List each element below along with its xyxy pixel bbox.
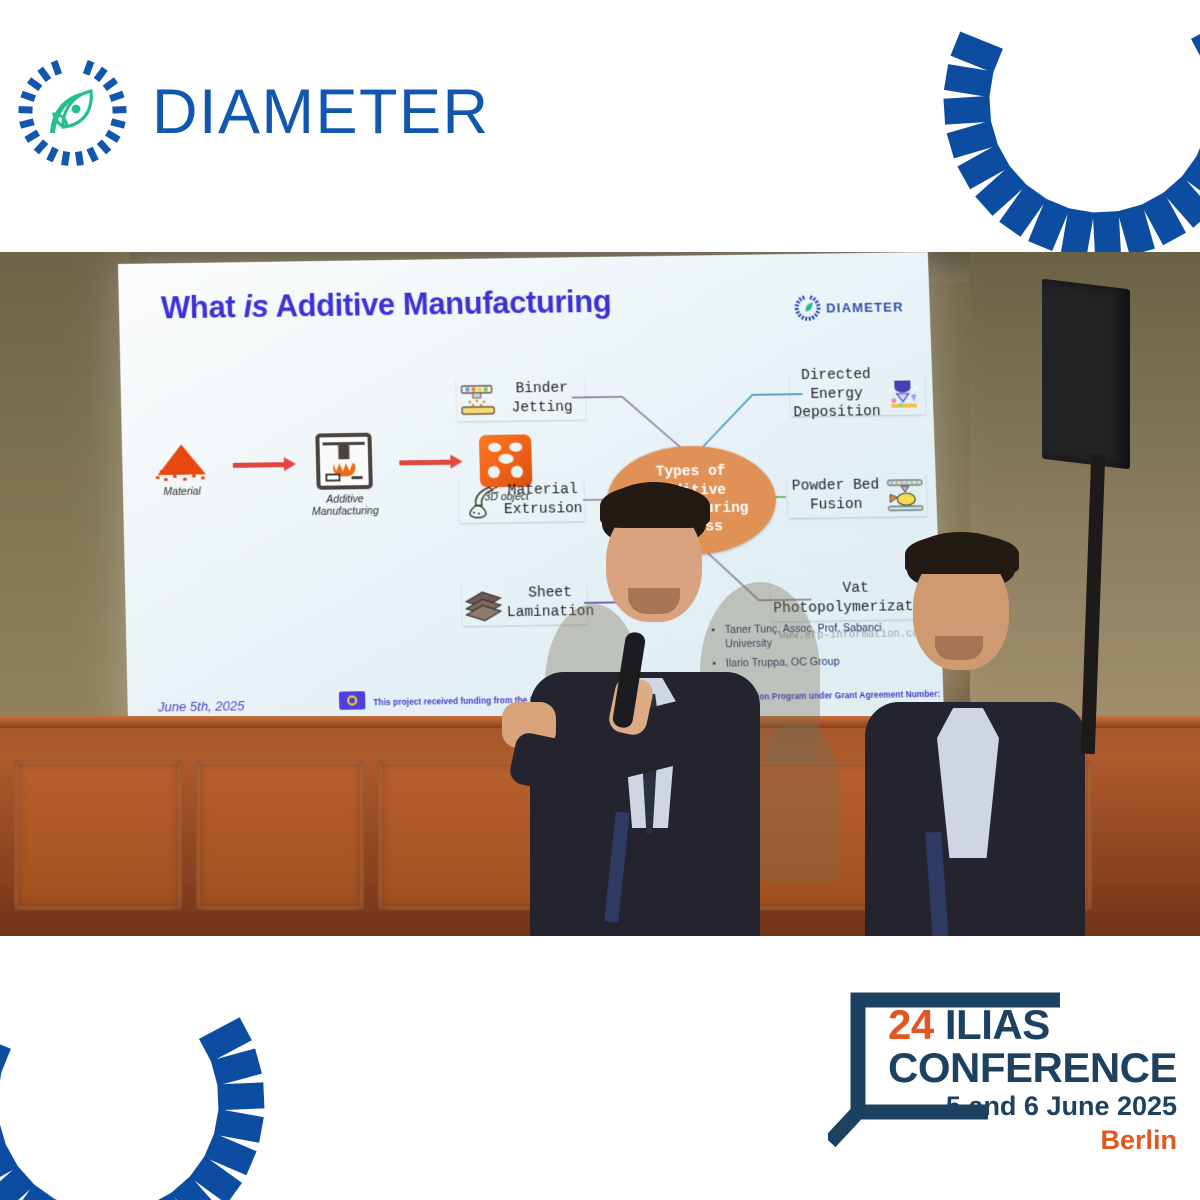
dash-tick <box>816 308 820 310</box>
mindmap-node-label: Directed Energy Deposition <box>789 363 883 426</box>
flow-arrow-2 <box>399 460 451 466</box>
dash-tick <box>96 139 111 154</box>
dash-tick <box>811 315 814 319</box>
dash-tick <box>804 317 806 321</box>
dash-tick <box>795 304 799 307</box>
dash-tick <box>18 106 32 114</box>
slide-logo-text: DIAMETER <box>826 299 904 315</box>
leaf-icon <box>41 81 103 143</box>
dashed-circle-decoration-bottom-left <box>0 942 268 1200</box>
dash-tick <box>46 147 58 163</box>
conference-name: ILIAS <box>945 1001 1050 1048</box>
dash-tick <box>61 151 70 166</box>
dash-tick <box>110 118 125 128</box>
dash-tick <box>93 67 107 82</box>
flow-step-label: Material <box>141 485 224 498</box>
flow-step-label: Additive Manufacturing <box>302 493 389 519</box>
mindmap-node-directed-energy-deposition[interactable]: Directed Energy Deposition <box>790 372 926 416</box>
dash-tick <box>33 139 48 154</box>
pa-speaker-on-stand <box>1036 274 1156 574</box>
dashed-circle-leaf-icon-small <box>795 296 820 320</box>
slide-date: June 5th, 2025 <box>158 698 245 715</box>
slide-title-part1: What <box>161 289 244 325</box>
dash-tick <box>0 1032 11 1073</box>
speaker-with-microphone <box>490 482 790 936</box>
second-presenter <box>855 532 1095 936</box>
dash-tick <box>112 106 126 114</box>
dash-tick <box>86 147 98 163</box>
conference-number: 24 <box>888 1001 934 1048</box>
eu-flag-icon <box>339 691 366 710</box>
flow-step-printer: Additive Manufacturing <box>300 432 388 518</box>
dash-tick <box>19 118 34 128</box>
dashed-circle-leaf-icon <box>18 58 126 166</box>
dash-tick <box>109 91 125 102</box>
dash-tick <box>50 60 61 76</box>
dash-tick <box>102 77 117 91</box>
conference-text-block: 24 ILIAS CONFERENCE 5 and 6 June 2025 Be… <box>888 1004 1177 1156</box>
dash-tick <box>1191 17 1200 62</box>
powder-pile-icon <box>153 441 210 482</box>
dash-tick <box>24 130 40 143</box>
dash-tick <box>795 308 799 310</box>
dash-tick <box>104 130 120 143</box>
3d-printer-icon <box>315 433 373 490</box>
slide-title-part3: Additive Manufacturing <box>268 284 612 324</box>
poster-canvas: DIAMETER What is Additive Manufacturing … <box>0 0 1200 1200</box>
flow-arrow-1 <box>233 462 285 468</box>
powder-bed-fusion-icon <box>884 478 927 513</box>
dash-tick <box>943 96 991 125</box>
conference-title-line1: 24 ILIAS <box>888 1004 1177 1046</box>
mindmap-node-binder-jetting[interactable]: Binder Jetting <box>456 377 585 421</box>
flow-step-material: Material <box>140 441 224 499</box>
ilias-conference-logo: 24 ILIAS CONFERENCE 5 and 6 June 2025 Be… <box>828 990 1178 1170</box>
mindmap-node-powder-bed-fusion[interactable]: Powder Bed Fusion <box>787 474 927 518</box>
dash-tick <box>808 316 811 320</box>
dash-tick <box>20 91 36 102</box>
dash-tick <box>37 67 51 82</box>
mindmap-node-label: Binder Jetting <box>498 377 585 422</box>
dash-tick <box>801 315 804 319</box>
slide-title: What is Additive Manufacturing <box>161 284 612 327</box>
conference-dates: 5 and 6 June 2025 <box>888 1090 1177 1124</box>
conference-title-line2: CONFERENCE <box>888 1046 1177 1090</box>
slide-title-part2: is <box>243 289 269 324</box>
diameter-brand-logo: DIAMETER <box>18 58 490 166</box>
conference-city: Berlin <box>888 1124 1177 1156</box>
dash-tick <box>82 60 93 76</box>
am-process-flow: Material Additive Manufacturing <box>140 432 444 562</box>
directed-energy-deposition-icon <box>882 376 925 411</box>
binder-jetting-icon <box>456 383 499 418</box>
dash-tick <box>74 151 83 166</box>
conference-presentation-photo: What is Additive Manufacturing DIAMETER <box>0 252 1200 936</box>
mindmap-node-label: Powder Bed Fusion <box>787 474 885 519</box>
slide-diameter-logo: DIAMETER <box>795 294 904 320</box>
dash-tick <box>816 304 820 307</box>
dash-tick <box>26 77 41 91</box>
dash-tick <box>217 1082 264 1110</box>
brand-wordmark: DIAMETER <box>152 81 490 144</box>
dashed-circle-decoration-top-right <box>940 0 1200 262</box>
